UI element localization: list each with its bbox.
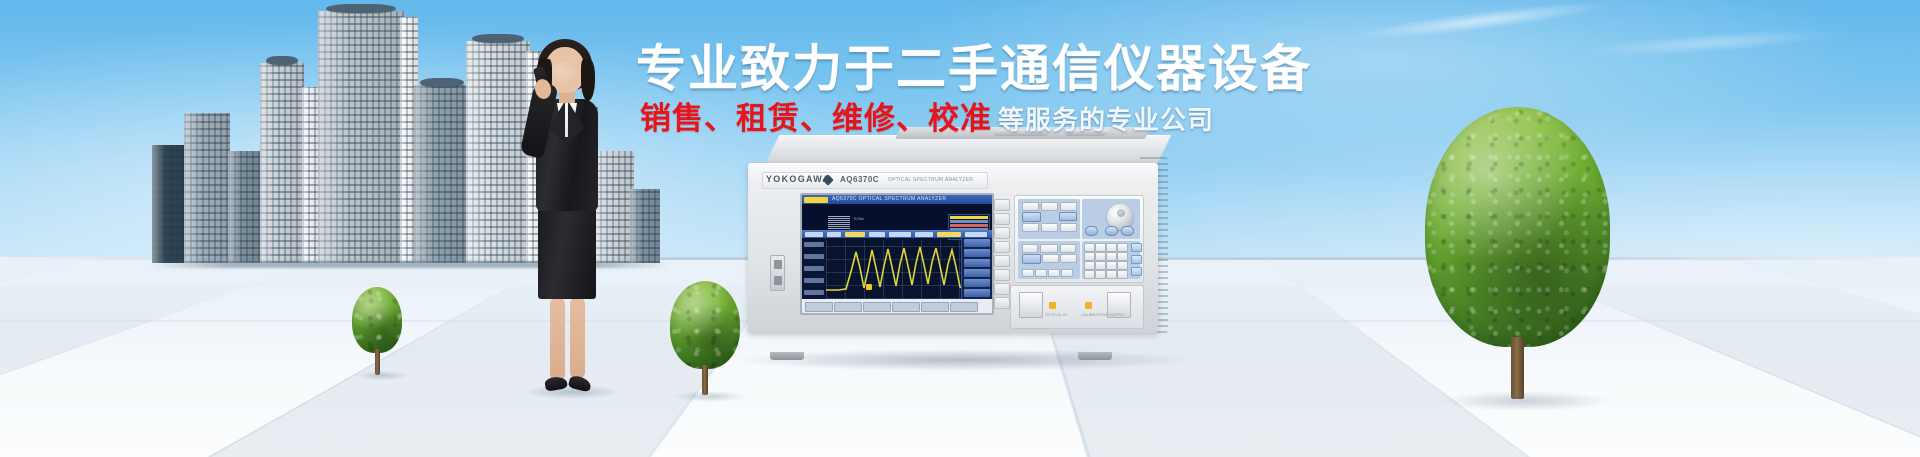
- businesswoman-on-phone: [505, 41, 635, 401]
- tree-large-right: [1425, 107, 1625, 407]
- calibration-output-label: CALIBRATION OUTPUT: [1081, 312, 1125, 317]
- cursor-left-button[interactable]: [1085, 226, 1098, 236]
- cursor-down-button[interactable]: [1105, 226, 1118, 236]
- instrument-brand: YOKOGAWA: [766, 174, 830, 184]
- soft-key-column[interactable]: [994, 197, 1008, 309]
- usb-port-panel[interactable]: [770, 255, 785, 291]
- subtitle-rest: 等服务的专业公司: [998, 106, 1214, 136]
- optical-input-indicator: [1049, 302, 1056, 309]
- tree-small-mid: [670, 281, 748, 401]
- instrument-display[interactable]: AQ6370C OPTICAL SPECTRUM ANALYZER R-Bw: [800, 193, 994, 315]
- optical-input-label: OPTICAL IN: [1045, 312, 1067, 317]
- screen-soft-key-labels: [961, 238, 992, 301]
- screen-axis-labels: [802, 240, 826, 299]
- connector-bay[interactable]: OPTICAL IN CALIBRATION OUTPUT: [1010, 285, 1144, 329]
- instrument-model: AQ6370C: [840, 175, 879, 184]
- screen-tab-bar: [802, 299, 992, 313]
- screen-title-text: AQ6370C OPTICAL SPECTRUM ANALYZER: [832, 196, 946, 202]
- cursor-up-button[interactable]: [1121, 226, 1134, 236]
- numeric-keypad[interactable]: [1084, 243, 1128, 277]
- instrument-series-note: OPTICAL SPECTRUM ANALYZER: [888, 177, 973, 183]
- calibration-output-indicator: [1085, 302, 1092, 309]
- promotional-banner: 专业致力于二手通信仪器设备 销售、租赁、维修、校准等服务的专业公司 YOKOGA…: [0, 0, 1920, 457]
- unit-key-column[interactable]: [1131, 243, 1140, 277]
- subtitle-highlight: 销售、租赁、维修、校准: [640, 101, 992, 137]
- subtitle: 销售、租赁、维修、校准等服务的专业公司: [640, 104, 1214, 135]
- screen-status-bar: [802, 230, 992, 238]
- tree-small-left: [352, 287, 408, 379]
- screen-title-badge: [804, 197, 828, 203]
- optical-spectrum-analyzer: YOKOGAWA AQ6370C OPTICAL SPECTRUM ANALYZ…: [748, 163, 1168, 353]
- screen-info-text: R-Bw: [854, 216, 864, 221]
- cloud-wisp-icon: [1559, 20, 1860, 67]
- page-title: 专业致力于二手通信仪器设备: [636, 44, 1312, 94]
- control-panel[interactable]: [1014, 195, 1144, 283]
- plot-marker-icon: [866, 284, 872, 290]
- optical-input-port[interactable]: [1019, 292, 1043, 318]
